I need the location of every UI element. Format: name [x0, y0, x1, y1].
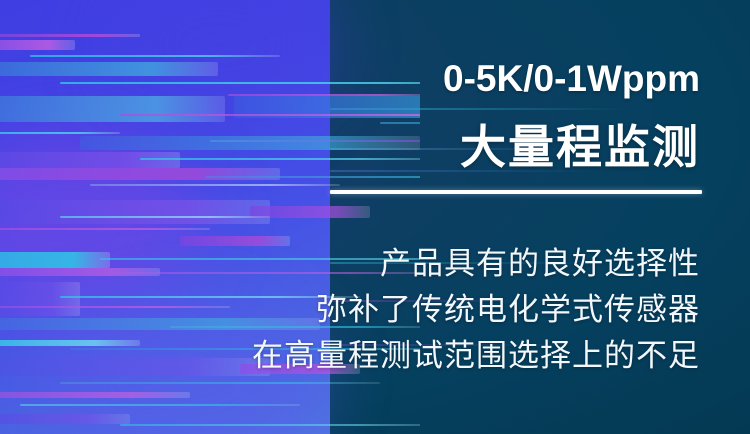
speed-line [110, 272, 420, 274]
speed-line [80, 136, 420, 150]
speed-line [60, 382, 380, 384]
speed-line [0, 152, 180, 168]
speed-line [0, 132, 120, 134]
speed-line [0, 340, 140, 346]
speed-line [0, 40, 75, 50]
speed-line [0, 34, 140, 37]
title-divider-line [330, 190, 702, 194]
speed-line [0, 392, 190, 398]
description-line-3: 在高量程测试范围选择上的不足 [252, 337, 700, 375]
speed-line [60, 82, 420, 84]
speed-line [0, 414, 130, 424]
speed-line [210, 140, 420, 142]
speed-line [0, 168, 280, 180]
speed-line [120, 424, 420, 426]
headline-secondary: 大量程监测 [460, 120, 700, 174]
product-banner: 0-5K/0-1Wppm 大量程监测 产品具有的良好选择性 弥补了传统电化学式传… [0, 0, 750, 434]
speed-line [0, 200, 270, 224]
speed-line [0, 96, 225, 122]
speed-line [380, 122, 420, 124]
speed-line [30, 55, 280, 57]
speed-line [60, 296, 360, 298]
speed-line [140, 158, 420, 160]
speed-line [0, 228, 210, 230]
speed-line [205, 176, 420, 178]
speed-line [180, 236, 290, 246]
description-line-1: 产品具有的良好选择性 [380, 245, 700, 283]
speed-line [60, 216, 270, 218]
speed-line [90, 184, 340, 186]
speed-line [0, 252, 110, 268]
speed-line [20, 404, 300, 406]
speed-line [0, 358, 270, 376]
speed-line [120, 114, 420, 116]
headline-primary: 0-5K/0-1Wppm [443, 57, 700, 101]
speed-line [0, 306, 230, 308]
speed-line [100, 258, 420, 260]
speed-line [0, 282, 80, 316]
description-line-2: 弥补了传统电化学式传感器 [316, 291, 700, 329]
speed-line [0, 62, 218, 76]
speed-line [0, 318, 320, 330]
